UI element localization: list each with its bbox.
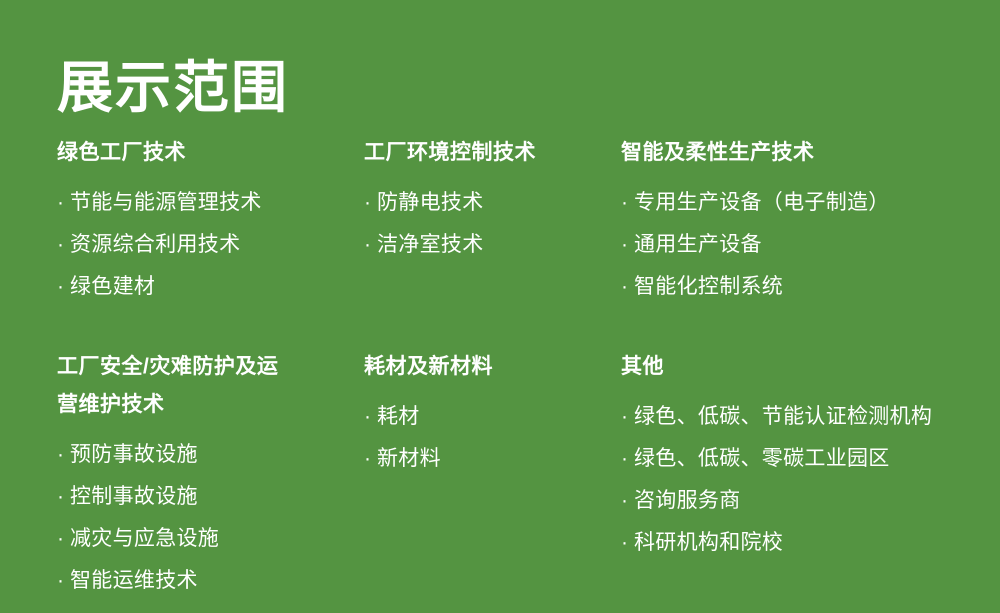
list-item: · 咨询服务商 bbox=[621, 480, 1000, 522]
section-title: 绿色工厂技术 bbox=[57, 134, 307, 172]
page-title: 展示范围 bbox=[57, 56, 289, 120]
list-item: · 耗材 bbox=[364, 396, 621, 438]
bullet-icon: · bbox=[621, 396, 634, 438]
section-title: 智能及柔性生产技术 bbox=[621, 134, 871, 172]
list-item: · 洁净室技术 bbox=[364, 224, 621, 266]
section-title: 工厂安全/灾难防护及运营维护技术 bbox=[57, 348, 297, 424]
list-item-label: 洁净室技术 bbox=[377, 224, 484, 266]
list-item-label: 新材料 bbox=[377, 438, 441, 480]
section-title: 工厂环境控制技术 bbox=[364, 134, 614, 172]
bullet-icon: · bbox=[621, 182, 634, 224]
section-others: 其他 · 绿色、低碳、节能认证检测机构 · 绿色、低碳、零碳工业园区 · 咨询服… bbox=[621, 348, 1000, 602]
list-item: · 控制事故设施 bbox=[57, 476, 364, 518]
bullet-icon: · bbox=[621, 224, 634, 266]
section-title: 耗材及新材料 bbox=[364, 348, 614, 386]
bullet-icon: · bbox=[364, 396, 377, 438]
list-item: · 专用生产设备（电子制造） bbox=[621, 182, 1000, 224]
list-item-label: 专用生产设备（电子制造） bbox=[634, 182, 890, 224]
list-item: · 减灾与应急设施 bbox=[57, 518, 364, 560]
list-item-label: 科研机构和院校 bbox=[634, 522, 783, 564]
list-item: · 新材料 bbox=[364, 438, 621, 480]
section-consumables-new-materials: 耗材及新材料 · 耗材 · 新材料 bbox=[364, 348, 621, 602]
list-item: · 通用生产设备 bbox=[621, 224, 1000, 266]
section-item-list: · 专用生产设备（电子制造） · 通用生产设备 · 智能化控制系统 bbox=[621, 182, 1000, 308]
list-item-label: 通用生产设备 bbox=[634, 224, 762, 266]
list-item: · 智能化控制系统 bbox=[621, 266, 1000, 308]
list-item: · 绿色、低碳、零碳工业园区 bbox=[621, 438, 1000, 480]
bullet-icon: · bbox=[621, 480, 634, 522]
list-item-label: 绿色、低碳、零碳工业园区 bbox=[634, 438, 890, 480]
exhibition-scope-poster: 展示范围 绿色工厂技术 · 节能与能源管理技术 · 资源综合利用技术 · 绿色建… bbox=[0, 0, 1000, 613]
bullet-icon: · bbox=[57, 476, 70, 518]
list-item: · 防静电技术 bbox=[364, 182, 621, 224]
list-item: · 绿色、低碳、节能认证检测机构 bbox=[621, 396, 1000, 438]
bullet-icon: · bbox=[57, 518, 70, 560]
section-item-list: · 预防事故设施 · 控制事故设施 · 减灾与应急设施 · 智能运维技术 bbox=[57, 434, 364, 602]
list-item-label: 咨询服务商 bbox=[634, 480, 741, 522]
section-factory-safety-disaster-protection-ops: 工厂安全/灾难防护及运营维护技术 · 预防事故设施 · 控制事故设施 · 减灾与… bbox=[57, 348, 364, 602]
bullet-icon: · bbox=[57, 224, 70, 266]
list-item-label: 减灾与应急设施 bbox=[70, 518, 219, 560]
list-item-label: 防静电技术 bbox=[377, 182, 484, 224]
bullet-icon: · bbox=[621, 266, 634, 308]
section-green-factory-technology: 绿色工厂技术 · 节能与能源管理技术 · 资源综合利用技术 · 绿色建材 bbox=[57, 134, 364, 340]
bullet-icon: · bbox=[364, 182, 377, 224]
bullet-icon: · bbox=[621, 522, 634, 564]
list-item-label: 绿色建材 bbox=[70, 266, 155, 308]
section-item-list: · 防静电技术 · 洁净室技术 bbox=[364, 182, 621, 266]
list-item: · 资源综合利用技术 bbox=[57, 224, 364, 266]
list-item-label: 绿色、低碳、节能认证检测机构 bbox=[634, 396, 932, 438]
list-item-label: 节能与能源管理技术 bbox=[70, 182, 262, 224]
sections-grid: 绿色工厂技术 · 节能与能源管理技术 · 资源综合利用技术 · 绿色建材 工厂环… bbox=[0, 130, 1000, 602]
bullet-icon: · bbox=[57, 434, 70, 476]
list-item: · 智能运维技术 bbox=[57, 560, 364, 602]
section-item-list: · 耗材 · 新材料 bbox=[364, 396, 621, 480]
bullet-icon: · bbox=[57, 266, 70, 308]
section-title: 其他 bbox=[621, 348, 871, 386]
list-item-label: 预防事故设施 bbox=[70, 434, 198, 476]
list-item: · 节能与能源管理技术 bbox=[57, 182, 364, 224]
section-item-list: · 节能与能源管理技术 · 资源综合利用技术 · 绿色建材 bbox=[57, 182, 364, 308]
list-item-label: 智能化控制系统 bbox=[634, 266, 783, 308]
list-item-label: 控制事故设施 bbox=[70, 476, 198, 518]
list-item-label: 耗材 bbox=[377, 396, 420, 438]
bullet-icon: · bbox=[364, 224, 377, 266]
bullet-icon: · bbox=[621, 438, 634, 480]
section-item-list: · 绿色、低碳、节能认证检测机构 · 绿色、低碳、零碳工业园区 · 咨询服务商 … bbox=[621, 396, 1000, 564]
bullet-icon: · bbox=[57, 560, 70, 602]
list-item: · 预防事故设施 bbox=[57, 434, 364, 476]
section-factory-environment-control-technology: 工厂环境控制技术 · 防静电技术 · 洁净室技术 bbox=[364, 134, 621, 340]
section-intelligent-flexible-production-technology: 智能及柔性生产技术 · 专用生产设备（电子制造） · 通用生产设备 · 智能化控… bbox=[621, 134, 1000, 340]
list-item: · 科研机构和院校 bbox=[621, 522, 1000, 564]
list-item-label: 智能运维技术 bbox=[70, 560, 198, 602]
bullet-icon: · bbox=[364, 438, 377, 480]
list-item: · 绿色建材 bbox=[57, 266, 364, 308]
bullet-icon: · bbox=[57, 182, 70, 224]
list-item-label: 资源综合利用技术 bbox=[70, 224, 240, 266]
